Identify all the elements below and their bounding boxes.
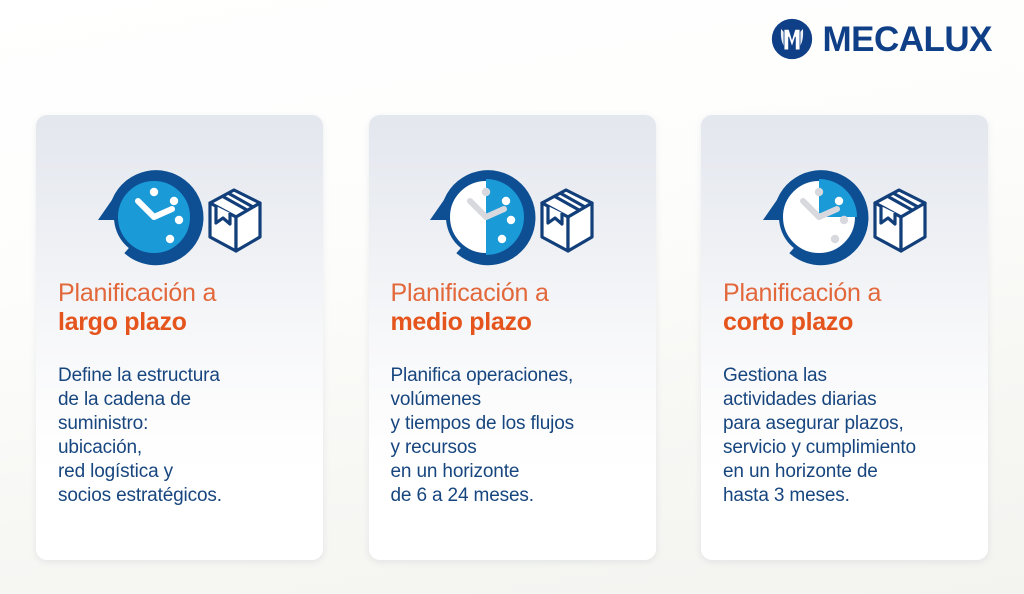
card-body-line: Define la estructura [58,364,315,388]
card-title-line2: largo plazo [58,308,309,337]
clock-half-with-box-icon [424,163,600,267]
card-body-line: volúmenes [391,388,648,412]
clock-quarter-with-box-icon [757,163,933,267]
card-body-line: Gestiona las [723,364,980,388]
card-title-line1: Planificación a [723,279,974,308]
mecalux-m-monogram-icon [771,18,813,60]
card-body-line: ubicación, [58,436,315,460]
card-body: Define la estructura de la cadena de sum… [58,364,315,508]
card-title: Planificación a corto plazo [723,279,974,337]
card-body-line: para asegurar plazos, [723,412,980,436]
card-body: Gestiona las actividades diarias para as… [723,364,980,508]
card-body-line: suministro: [58,412,315,436]
card-body-line: y recursos [391,436,648,460]
card-title-line2: corto plazo [723,308,974,337]
clock-full-with-box-icon [92,163,268,267]
page-header: MECALUX [0,0,1024,86]
card-body-line: de la cadena de [58,388,315,412]
mecalux-wordmark: MECALUX [822,22,992,57]
card-title-line2: medio plazo [391,308,642,337]
card-title-line1: Planificación a [391,279,642,308]
card-body-line: red logística y [58,460,315,484]
card-title-line1: Planificación a [58,279,309,308]
card-body-line: en un horizonte de [723,460,980,484]
card-body-line: y tiempos de los flujos [391,412,648,436]
card-body-line: servicio y cumplimiento [723,436,980,460]
card-title: Planificación a largo plazo [58,279,309,337]
card-title: Planificación a medio plazo [391,279,642,337]
mecalux-logo: MECALUX [771,18,992,60]
card-largo-plazo[interactable]: Planificación a largo plazo Define la es… [36,115,323,560]
card-body-line: de 6 a 24 meses. [391,484,648,508]
card-body-line: Planifica operaciones, [391,364,648,388]
card-corto-plazo[interactable]: Planificación a corto plazo Gestiona las… [701,115,988,560]
card-body-line: socios estratégicos. [58,484,315,508]
card-body-line: actividades diarias [723,388,980,412]
card-body-line: hasta 3 meses. [723,484,980,508]
card-body-line: en un horizonte [391,460,648,484]
planning-cards-row: Planificación a largo plazo Define la es… [36,115,988,560]
card-body: Planifica operaciones, volúmenes y tiemp… [391,364,648,508]
card-medio-plazo[interactable]: Planificación a medio plazo Planifica op… [369,115,656,560]
